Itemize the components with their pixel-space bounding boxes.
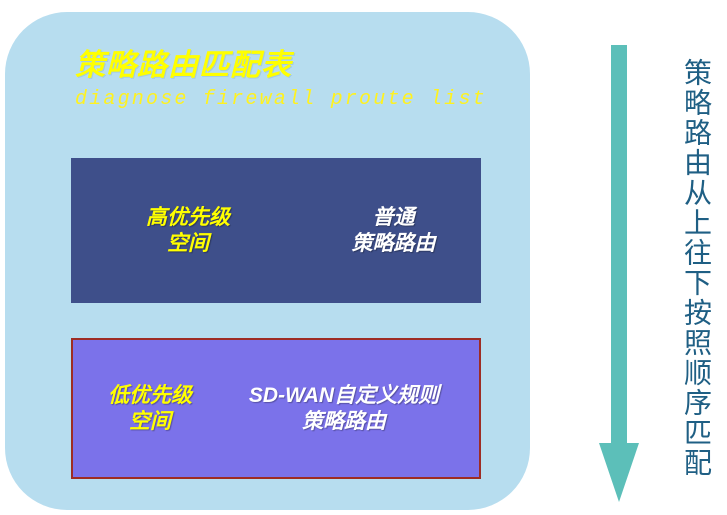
- high-priority-space-line2: 空间: [123, 231, 253, 257]
- page-title: 策略路由匹配表: [75, 50, 505, 82]
- low-priority-space-line2: 空间: [85, 409, 215, 435]
- heading-block: 策略路由匹配表 diagnose firewall proute list: [75, 50, 505, 111]
- match-order-annotation: 策略路由从上往下按照顺序匹配: [668, 58, 712, 478]
- high-priority-space-line1: 高优先级: [123, 204, 253, 230]
- slide-canvas: 策略路由匹配表 diagnose firewall proute list 高优…: [0, 0, 727, 515]
- low-priority-space-line1: 低优先级: [85, 382, 215, 408]
- low-priority-box: 低优先级 空间 SD-WAN自定义规则 策略路由: [71, 338, 481, 479]
- policy-route-panel: 策略路由匹配表 diagnose firewall proute list 高优…: [5, 12, 530, 510]
- high-priority-route-line2: 策略路由: [326, 231, 461, 257]
- match-order-arrow-icon: [598, 45, 640, 503]
- high-priority-route-label: 普通 策略路由: [326, 204, 461, 257]
- low-priority-route-line2: 策略路由: [213, 409, 475, 435]
- low-priority-route-line1: SD-WAN自定义规则: [213, 382, 475, 408]
- low-priority-route-label: SD-WAN自定义规则 策略路由: [213, 382, 475, 435]
- low-priority-space-label: 低优先级 空间: [85, 382, 215, 435]
- high-priority-route-line1: 普通: [326, 204, 461, 230]
- high-priority-box: 高优先级 空间 普通 策略路由: [71, 158, 481, 303]
- cli-command-subtitle: diagnose firewall proute list: [75, 88, 505, 111]
- high-priority-space-label: 高优先级 空间: [123, 204, 253, 257]
